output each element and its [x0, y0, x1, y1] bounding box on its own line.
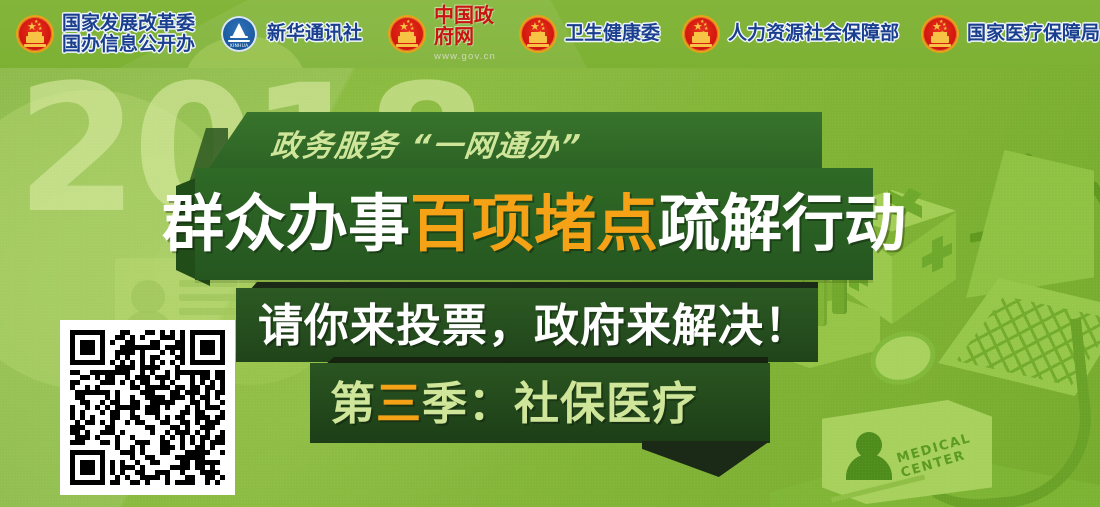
- subtitle-text: 请你来投票，政府来解决！: [258, 303, 810, 348]
- headline-ribbon: 群众办事百项堵点疏解行动: [195, 168, 873, 280]
- season-ribbon-fold-bottom: [642, 441, 770, 477]
- season-text: 第三季：社保医疗: [330, 381, 698, 426]
- season-number: 三: [376, 377, 422, 430]
- banner-root: 2018: [0, 0, 1100, 507]
- season-prefix: 第: [330, 377, 376, 430]
- season-suffix: 季：社保医疗: [422, 377, 698, 430]
- headline-part1: 群众办事: [162, 187, 410, 260]
- headline-text: 群众办事百项堵点疏解行动: [162, 193, 906, 255]
- subtitle-ribbon: 请你来投票，政府来解决！: [236, 288, 818, 362]
- headline-highlight: 百项堵点: [410, 187, 658, 260]
- qr-code-image: [70, 330, 225, 485]
- eyebrow-text: 政务服务 “一网通办”: [269, 121, 585, 165]
- qr-code[interactable]: [60, 320, 235, 495]
- season-ribbon: 第三季：社保医疗: [310, 363, 770, 443]
- headline-part2: 疏解行动: [658, 187, 906, 260]
- eyebrow-ribbon: 政务服务 “一网通办”: [205, 112, 822, 174]
